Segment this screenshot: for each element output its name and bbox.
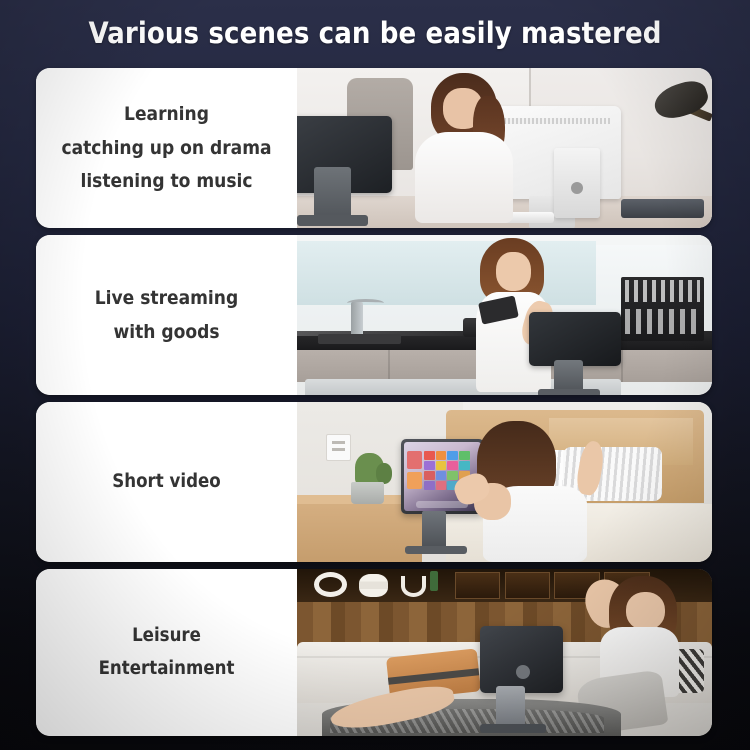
scene-card-live-streaming[interactable]: Live streaming with goods (36, 235, 712, 395)
scene-label-line: catching up on drama (61, 138, 271, 159)
tablet-device (529, 312, 620, 366)
sink (318, 334, 401, 344)
scene-label-line: with goods (113, 322, 219, 343)
page-title: Various scenes can be easily mastered (0, 16, 750, 50)
stand-hinge (516, 665, 530, 679)
scene-photo-living-room (297, 569, 712, 736)
scene-card-leisure[interactable]: Leisure Entertainment (36, 569, 712, 736)
stacked-ornament (359, 574, 388, 597)
tablet-stand-column (422, 511, 447, 549)
hook-ornament (401, 576, 426, 598)
person-lying-on-bed (463, 421, 604, 562)
ring-ornament (314, 572, 347, 597)
scene-card-text-pane: Short video (36, 402, 297, 562)
face (626, 592, 666, 630)
plant-pot (351, 482, 384, 504)
scene-card-short-video[interactable]: Short video (36, 402, 712, 562)
tablet-stand-base (297, 215, 368, 226)
scene-card-text-pane: Live streaming with goods (36, 235, 297, 395)
scene-label-line: Live streaming (95, 288, 238, 309)
scene-label-line: Short video (112, 472, 220, 492)
shelf-niche (455, 572, 501, 599)
wall-outlet (326, 434, 351, 461)
tablet-stand-base (538, 389, 600, 395)
scene-card-text-pane: Leisure Entertainment (36, 569, 297, 736)
shelf-niche (505, 572, 551, 599)
face (496, 252, 531, 291)
stand-hinge (571, 182, 583, 194)
tablet-stand-base (405, 546, 467, 554)
scene-label-line: listening to music (80, 171, 252, 192)
tablet-stand-base (480, 724, 546, 732)
white-blouse (415, 132, 513, 223)
scene-label-line: Leisure (132, 626, 201, 646)
feet (574, 439, 606, 496)
scene-photo-kitchen (297, 235, 712, 395)
faucet (351, 302, 363, 337)
scene-photo-bedroom (297, 402, 712, 562)
desk-mat (621, 199, 704, 218)
bottles-row (625, 309, 700, 335)
person-at-desk (413, 73, 513, 220)
cabinet-seam (388, 350, 390, 382)
bottles-row (625, 280, 700, 302)
cactus-arm (376, 463, 393, 484)
tablet-stand-secondary (554, 148, 600, 218)
green-bottle (430, 571, 438, 591)
home-widget (407, 451, 422, 469)
scene-card-text-pane: Learning catching up on drama listening … (36, 68, 297, 228)
scene-photo-office-desk (297, 68, 712, 228)
scene-label-line: Entertainment (99, 659, 235, 679)
scene-card-learning[interactable]: Learning catching up on drama listening … (36, 68, 712, 228)
scene-card-list: Learning catching up on drama listening … (36, 68, 712, 736)
home-widget (407, 472, 422, 489)
cabinet-seam (621, 350, 623, 382)
tablet-device (480, 626, 563, 693)
scene-label-line: Learning (124, 104, 209, 125)
promo-page: Various scenes can be easily mastered Le… (0, 0, 750, 750)
